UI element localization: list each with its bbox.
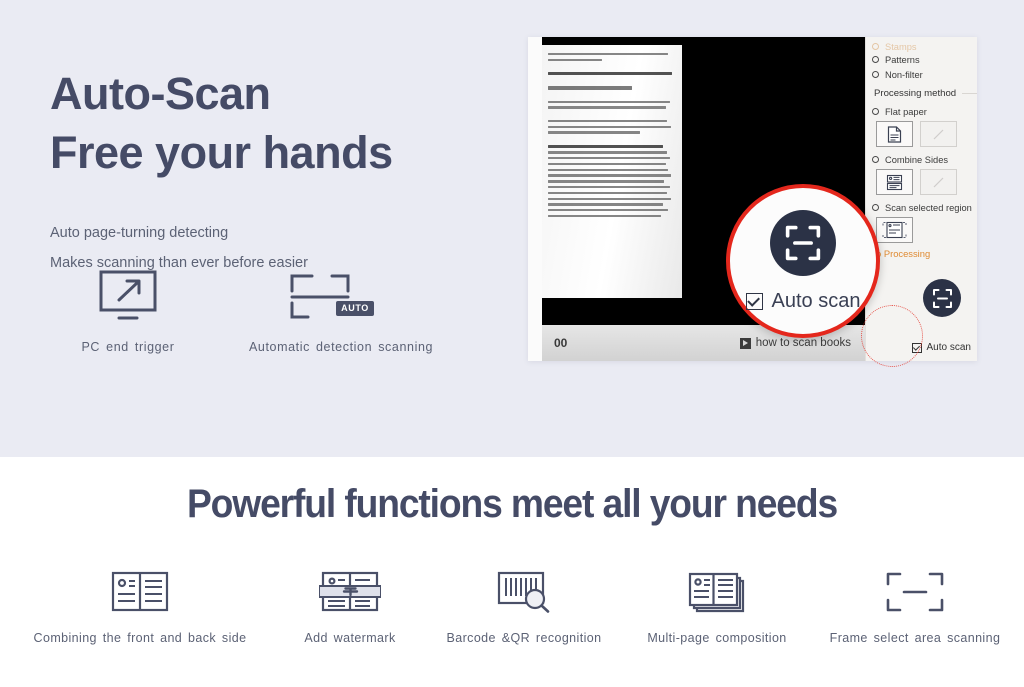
auto-detect-scan-icon: AUTO <box>226 268 456 324</box>
feature-multi-page: Multi-page composition <box>619 569 815 645</box>
auto-scan-magnifier-callout: Auto scan <box>726 184 880 338</box>
scan-frame-icon <box>923 279 961 317</box>
rail-item-scan-selected-region[interactable]: Scan selected region <box>872 200 977 215</box>
radio-icon <box>872 204 879 211</box>
scanned-document-page <box>542 45 682 298</box>
scan-region-tiles <box>876 217 977 243</box>
radio-icon <box>872 43 879 50</box>
rail-item-flat-paper[interactable]: Flat paper <box>872 104 977 119</box>
processing-link[interactable]: o Processing <box>876 248 977 259</box>
feature-add-watermark: Add watermark <box>271 569 429 645</box>
features-heading: Powerful functions meet all your needs <box>36 482 988 527</box>
play-icon <box>740 338 751 349</box>
feature-label: Add watermark <box>271 631 429 645</box>
rail-item-non-filter[interactable]: Non-filter <box>872 67 977 82</box>
magnified-auto-scan-label: Auto scan <box>772 290 861 313</box>
feature-label: Frame select area scanning <box>815 631 1015 645</box>
hero-feature-label: PC end trigger <box>38 340 218 354</box>
hero-feature-label: Automatic detection scanning <box>226 340 456 354</box>
processing-method-label: Processing method <box>874 88 956 99</box>
feature-list: Combining the front and back side Add wa… <box>0 569 1024 645</box>
flat-paper-alt-icon[interactable] <box>920 121 957 147</box>
auto-badge: AUTO <box>336 301 374 316</box>
magnified-auto-scan-checkbox[interactable]: Auto scan <box>746 290 861 313</box>
combine-sides-alt-icon[interactable] <box>920 169 957 195</box>
pc-trigger-icon <box>38 268 218 324</box>
radio-icon <box>872 56 879 63</box>
page-title: Auto-Scan Free your hands <box>50 64 500 183</box>
how-to-scan-books-link[interactable]: how to scan books <box>740 337 851 349</box>
rail-item-stamps[interactable]: Stamps <box>872 41 977 52</box>
features-section: Powerful functions meet all your needs C… <box>0 457 1024 687</box>
processing-method-header: Processing method <box>874 85 977 102</box>
feature-label: Combining the front and back side <box>9 631 271 645</box>
combine-sides-icon[interactable] <box>876 169 913 195</box>
barcode-qr-icon <box>429 569 619 615</box>
rail-auto-scan-label: Auto scan <box>927 342 971 353</box>
combine-sides-tiles <box>876 169 977 195</box>
callout-dotted-circle <box>861 305 923 367</box>
rail-item-label: Non-filter <box>885 70 923 80</box>
checkbox-checked-icon <box>746 293 763 310</box>
hero-feature-auto-detect: AUTO Automatic detection scanning <box>226 268 456 354</box>
rail-item-patterns[interactable]: Patterns <box>872 52 977 67</box>
hero-feature-pc-trigger: PC end trigger <box>38 268 218 354</box>
rail-item-label: Flat paper <box>885 107 927 117</box>
rail-auto-scan-badge[interactable] <box>923 279 961 317</box>
multi-page-icon <box>619 569 815 615</box>
feature-frame-select: Frame select area scanning <box>815 569 1015 645</box>
rail-item-label: Patterns <box>885 55 920 65</box>
scan-region-icon[interactable] <box>876 217 913 243</box>
radio-icon <box>872 156 879 163</box>
rail-item-label: Stamps <box>885 42 917 52</box>
hero-section: Auto-Scan Free your hands Auto page-turn… <box>0 0 1024 457</box>
how-to-scan-books-label: how to scan books <box>756 337 851 349</box>
scan-frame-icon <box>770 210 836 276</box>
feature-label: Multi-page composition <box>619 631 815 645</box>
frame-select-icon <box>815 569 1015 615</box>
flat-paper-icon[interactable] <box>876 121 913 147</box>
feature-label: Barcode &QR recognition <box>429 631 619 645</box>
radio-icon <box>872 108 879 115</box>
feature-barcode-qr: Barcode &QR recognition <box>429 569 619 645</box>
watermark-icon <box>271 569 429 615</box>
hero-subtitle-1: Auto page-turning detecting <box>50 219 500 249</box>
hero-copy: Auto-Scan Free your hands Auto page-turn… <box>50 64 500 278</box>
divider <box>962 93 977 94</box>
promo-page: Auto-Scan Free your hands Auto page-turn… <box>0 0 1024 687</box>
radio-icon <box>872 71 879 78</box>
page-counter: 00 <box>554 336 567 350</box>
feature-front-back-combine: Combining the front and back side <box>9 569 271 645</box>
hero-feature-list: PC end trigger AUTO Automatic detection … <box>38 268 456 354</box>
flat-paper-tiles <box>876 121 977 147</box>
rail-item-label: Combine Sides <box>885 155 948 165</box>
rail-item-combine-sides[interactable]: Combine Sides <box>872 152 977 167</box>
rail-item-label: Scan selected region <box>885 203 972 213</box>
front-back-combine-icon <box>9 569 271 615</box>
